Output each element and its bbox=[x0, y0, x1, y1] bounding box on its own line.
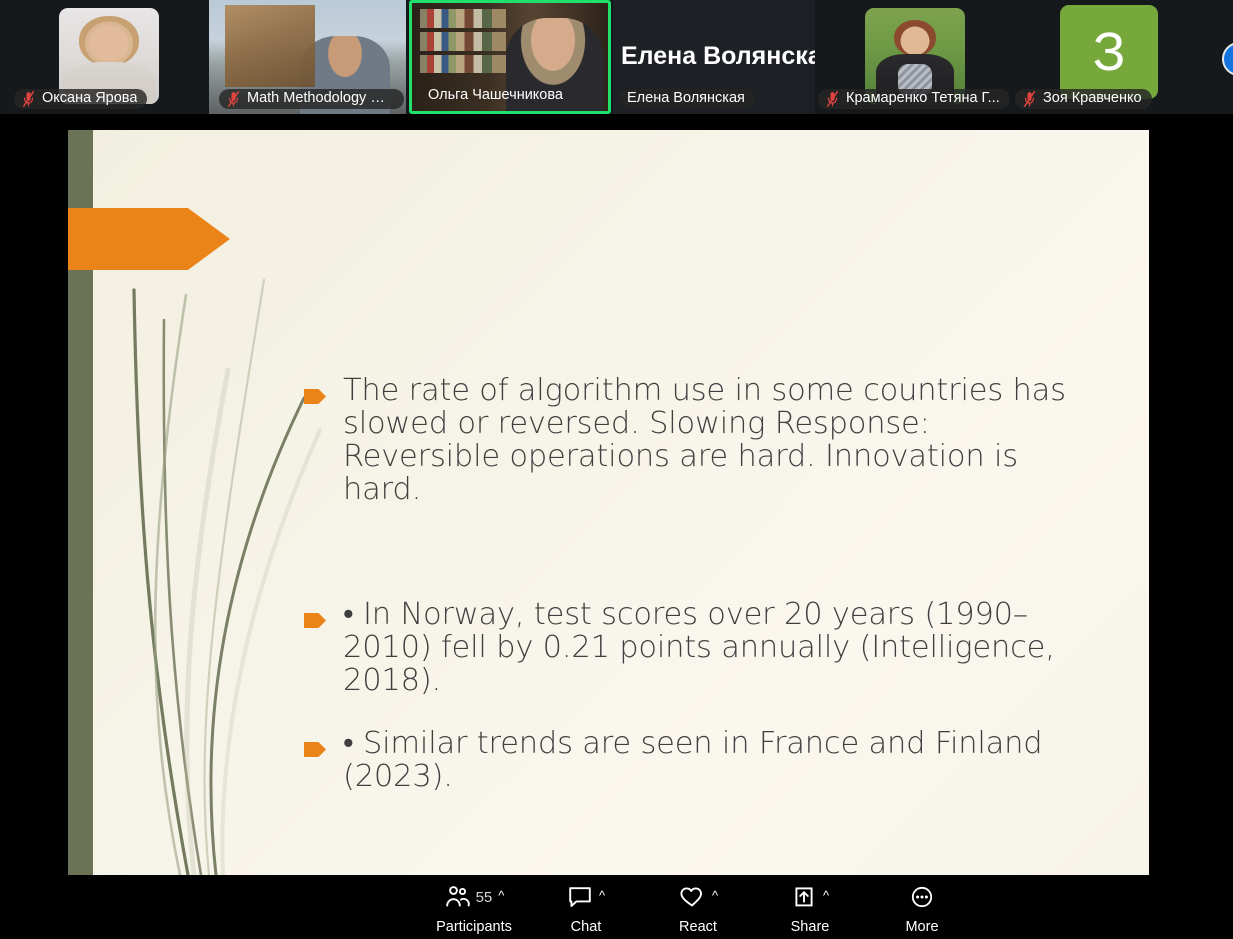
bullet-arrow-icon bbox=[304, 389, 326, 404]
slide-bullet-text: • Similar trends are seen in France and … bbox=[343, 727, 1094, 793]
slide-spacer bbox=[304, 536, 1094, 598]
video-tile-participant-5[interactable]: Крамаренко Тетяна Г... bbox=[816, 0, 1014, 114]
toolbar-chat-label: Chat bbox=[571, 919, 602, 935]
participant-name-pill: Math Methodology De... bbox=[219, 89, 404, 109]
participant-name-pill: Зоя Кравченко bbox=[1015, 89, 1152, 109]
video-tile-participant-3-active-speaker[interactable]: Ольга Чашечникова bbox=[409, 0, 611, 114]
slide-bullet-list: The rate of algorithm use in some countr… bbox=[304, 374, 1094, 793]
slide-bullet-text: • In Norway, test scores over 20 years (… bbox=[343, 598, 1094, 697]
toolbar-participants-label: Participants bbox=[436, 919, 512, 935]
avatar-initial-letter: З bbox=[1093, 21, 1126, 83]
participant-name-pill: Крамаренко Тетяна Г... bbox=[818, 89, 1010, 109]
mic-muted-icon bbox=[22, 91, 35, 107]
participant-name: Зоя Кравченко bbox=[1043, 89, 1142, 108]
presentation-slide: The rate of algorithm use in some countr… bbox=[68, 130, 1149, 875]
bullet-arrow-icon bbox=[304, 742, 326, 757]
toolbar-participants-button[interactable]: 55 ^ Participants bbox=[418, 880, 530, 935]
video-tile-participant-1[interactable]: Оксана Ярова bbox=[0, 0, 208, 114]
mic-muted-icon bbox=[1023, 91, 1036, 107]
participant-name-pill: Елена Волянская bbox=[619, 89, 755, 109]
chevron-up-icon[interactable]: ^ bbox=[823, 889, 829, 902]
bullet-arrow-icon bbox=[304, 613, 326, 628]
toolbar-more-label: More bbox=[905, 919, 938, 935]
chevron-up-icon[interactable]: ^ bbox=[712, 889, 718, 902]
chevron-up-icon[interactable]: ^ bbox=[498, 889, 504, 902]
video-filmstrip[interactable]: Оксана Ярова Math Methodology De... Ольг… bbox=[0, 0, 1233, 114]
toolbar-share-button[interactable]: ^ Share bbox=[754, 880, 866, 935]
chevron-up-icon[interactable]: ^ bbox=[599, 889, 605, 902]
screen-share-stage: The rate of algorithm use in some countr… bbox=[0, 114, 1233, 875]
participant-display-name-large: Елена Волянская bbox=[621, 42, 815, 71]
avatar-initial: З bbox=[1060, 5, 1158, 99]
participant-name: Ольга Чашечникова bbox=[428, 86, 563, 105]
participant-name-pill: Оксана Ярова bbox=[14, 89, 147, 109]
toolbar-react-label: React bbox=[679, 919, 717, 935]
participant-name: Math Methodology De... bbox=[247, 89, 394, 108]
video-tile-participant-6[interactable]: З Зоя Кравченко bbox=[1015, 0, 1200, 114]
participants-count: 55 bbox=[476, 890, 493, 905]
toolbar-more-button[interactable]: More bbox=[866, 880, 978, 935]
partial-avatar-next-participant[interactable] bbox=[1222, 42, 1233, 76]
participants-icon bbox=[444, 885, 472, 909]
react-heart-icon bbox=[678, 885, 706, 909]
meeting-toolbar[interactable]: 55 ^ Participants ^ Chat ^ React bbox=[0, 875, 1233, 939]
slide-bullet-item: • In Norway, test scores over 20 years (… bbox=[304, 598, 1094, 697]
toolbar-share-label: Share bbox=[791, 919, 830, 935]
slide-bullet-text: The rate of algorithm use in some countr… bbox=[343, 374, 1094, 506]
participant-name: Елена Волянская bbox=[627, 89, 745, 108]
slide-bullet-item: The rate of algorithm use in some countr… bbox=[304, 374, 1094, 506]
video-tile-participant-2[interactable]: Math Methodology De... bbox=[209, 0, 406, 114]
slide-bullet-item: • Similar trends are seen in France and … bbox=[304, 727, 1094, 793]
slide-title-arrow-banner bbox=[68, 208, 230, 270]
participant-name: Крамаренко Тетяна Г... bbox=[846, 89, 1000, 108]
video-tile-participant-4[interactable]: Елена Волянская Елена Волянская bbox=[613, 0, 815, 114]
mic-muted-icon bbox=[826, 91, 839, 107]
share-screen-icon bbox=[791, 885, 817, 909]
toolbar-react-button[interactable]: ^ React bbox=[642, 880, 754, 935]
mic-muted-icon bbox=[227, 91, 240, 107]
chat-icon bbox=[567, 885, 593, 909]
more-ellipsis-icon bbox=[908, 885, 936, 909]
participant-name: Оксана Ярова bbox=[42, 89, 137, 108]
participant-name-pill: Ольга Чашечникова bbox=[420, 86, 573, 106]
toolbar-chat-button[interactable]: ^ Chat bbox=[530, 880, 642, 935]
